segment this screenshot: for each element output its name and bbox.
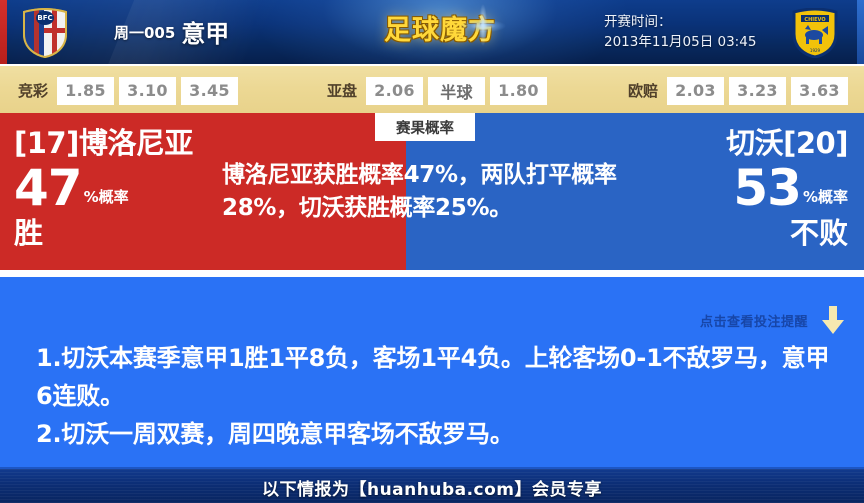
kickoff-time: 开赛时间： 2013年11月05日 03:45 bbox=[604, 12, 756, 52]
chievo-verona-crest-icon: CHIEVO 1929 bbox=[792, 8, 838, 58]
bet-reminder-label: 点击查看投注提醒 bbox=[700, 311, 808, 330]
odds-cell-european-away[interactable]: 3.63 bbox=[791, 77, 848, 105]
kickoff-value: 2013年11月05日 03:45 bbox=[604, 32, 756, 52]
match-header: BFC 周一005意甲 足球魔方 开赛时间： 2013年11月05日 03:45… bbox=[0, 0, 864, 64]
bologna-fc-crest-icon: BFC bbox=[22, 8, 68, 58]
away-probability-value: 53%概率 bbox=[726, 163, 848, 213]
info-line-1: 1.切沃本赛季意甲1胜1平8负，客场1平4负。上轮客场0-1不敌罗马，意甲6连败… bbox=[36, 339, 836, 415]
footer-membership-text: 以下情报为【huanhuba.com】会员专享 bbox=[262, 475, 602, 500]
odds-cell-jingcai-away[interactable]: 3.45 bbox=[181, 77, 238, 105]
away-result-label: 不败 bbox=[726, 219, 848, 248]
match-league-label: 意甲 bbox=[181, 20, 229, 48]
match-title: 周一005意甲 bbox=[114, 14, 229, 49]
odds-group-jingcai: 竞彩 1.85 3.10 3.45 bbox=[18, 66, 243, 115]
arrow-down-icon[interactable] bbox=[820, 305, 846, 335]
probability-panel: [17]博洛尼亚 47%概率 胜 切沃[20] 53%概率 不败 赛果概率 博洛… bbox=[0, 113, 864, 270]
home-result-label: 胜 bbox=[14, 219, 193, 248]
svg-text:1929: 1929 bbox=[810, 48, 821, 53]
info-line-2: 2.切沃一周双赛，周四晚意甲客场不敌罗马。 bbox=[36, 415, 836, 453]
odds-cell-handicap-home[interactable]: 2.06 bbox=[366, 77, 423, 105]
away-probability-unit: %概率 bbox=[803, 188, 848, 206]
footer-bar: 以下情报为【huanhuba.com】会员专享 bbox=[0, 467, 864, 503]
match-round-label: 周一005 bbox=[114, 24, 175, 42]
odds-cell-european-home[interactable]: 2.03 bbox=[667, 77, 724, 105]
header-left-accent-bar bbox=[0, 0, 7, 64]
odds-bar: 竞彩 1.85 3.10 3.45 亚盘 2.06 半球 1.80 欧赔 2.0… bbox=[0, 64, 864, 115]
odds-cell-handicap-line[interactable]: 半球 bbox=[428, 77, 485, 105]
odds-cell-handicap-away[interactable]: 1.80 bbox=[490, 77, 547, 105]
svg-text:BFC: BFC bbox=[37, 14, 52, 22]
kickoff-label: 开赛时间： bbox=[604, 12, 756, 32]
odds-group-title: 亚盘 bbox=[327, 80, 357, 101]
site-logo-text: 足球魔方 bbox=[368, 9, 512, 53]
away-team-name: 切沃[20] bbox=[726, 129, 848, 158]
home-team-summary: [17]博洛尼亚 47%概率 胜 bbox=[14, 129, 193, 248]
odds-group-title: 竞彩 bbox=[18, 80, 48, 101]
tab-result-probability[interactable]: 赛果概率 bbox=[375, 113, 475, 141]
team-info-panel: 点击查看投注提醒 1.切沃本赛季意甲1胜1平8负，客场1平4负。上轮客场0-1不… bbox=[0, 277, 864, 467]
match-preview-card: BFC 周一005意甲 足球魔方 开赛时间： 2013年11月05日 03:45… bbox=[0, 0, 864, 503]
svg-text:CHIEVO: CHIEVO bbox=[804, 17, 825, 23]
away-probability-number: 53 bbox=[733, 159, 801, 217]
home-probability-unit: %概率 bbox=[84, 188, 129, 206]
info-line-list: 1.切沃本赛季意甲1胜1平8负，客场1平4负。上轮客场0-1不敌罗马，意甲6连败… bbox=[36, 339, 836, 453]
tab-result-probability-label: 赛果概率 bbox=[396, 117, 454, 138]
bet-reminder-link[interactable]: 点击查看投注提醒 bbox=[700, 305, 846, 335]
home-probability-number: 47 bbox=[14, 159, 82, 217]
odds-group-european: 欧赔 2.03 3.23 3.63 bbox=[628, 66, 853, 115]
probability-description: 博洛尼亚获胜概率47%，两队打平概率28%，切沃获胜概率25%。 bbox=[222, 159, 642, 225]
home-probability-value: 47%概率 bbox=[14, 163, 193, 213]
home-team-name: [17]博洛尼亚 bbox=[14, 129, 193, 158]
odds-cell-european-draw[interactable]: 3.23 bbox=[729, 77, 786, 105]
odds-cell-jingcai-draw[interactable]: 3.10 bbox=[119, 77, 176, 105]
header-right-accent-bar bbox=[857, 0, 864, 64]
away-team-summary: 切沃[20] 53%概率 不败 bbox=[726, 129, 848, 248]
odds-group-title: 欧赔 bbox=[628, 80, 658, 101]
odds-group-asian-handicap: 亚盘 2.06 半球 1.80 bbox=[327, 66, 552, 115]
odds-cell-jingcai-home[interactable]: 1.85 bbox=[57, 77, 114, 105]
site-logo: 足球魔方 bbox=[368, 9, 512, 53]
